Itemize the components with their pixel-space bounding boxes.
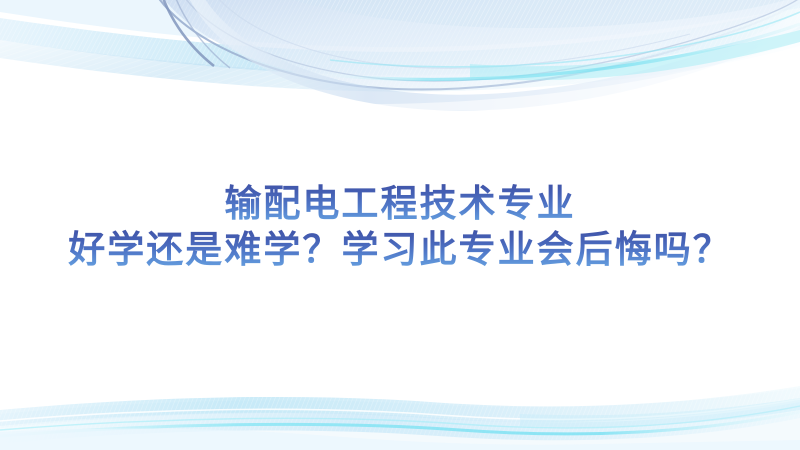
title-line-secondary: 好学还是难学？学习此专业会后悔吗？ (0, 228, 800, 272)
article-cover-banner: 输配电工程技术专业 好学还是难学？学习此专业会后悔吗？ (0, 0, 800, 450)
banner-title-block: 输配电工程技术专业 好学还是难学？学习此专业会后悔吗？ (0, 182, 800, 271)
title-line-primary: 输配电工程技术专业 (0, 182, 800, 226)
